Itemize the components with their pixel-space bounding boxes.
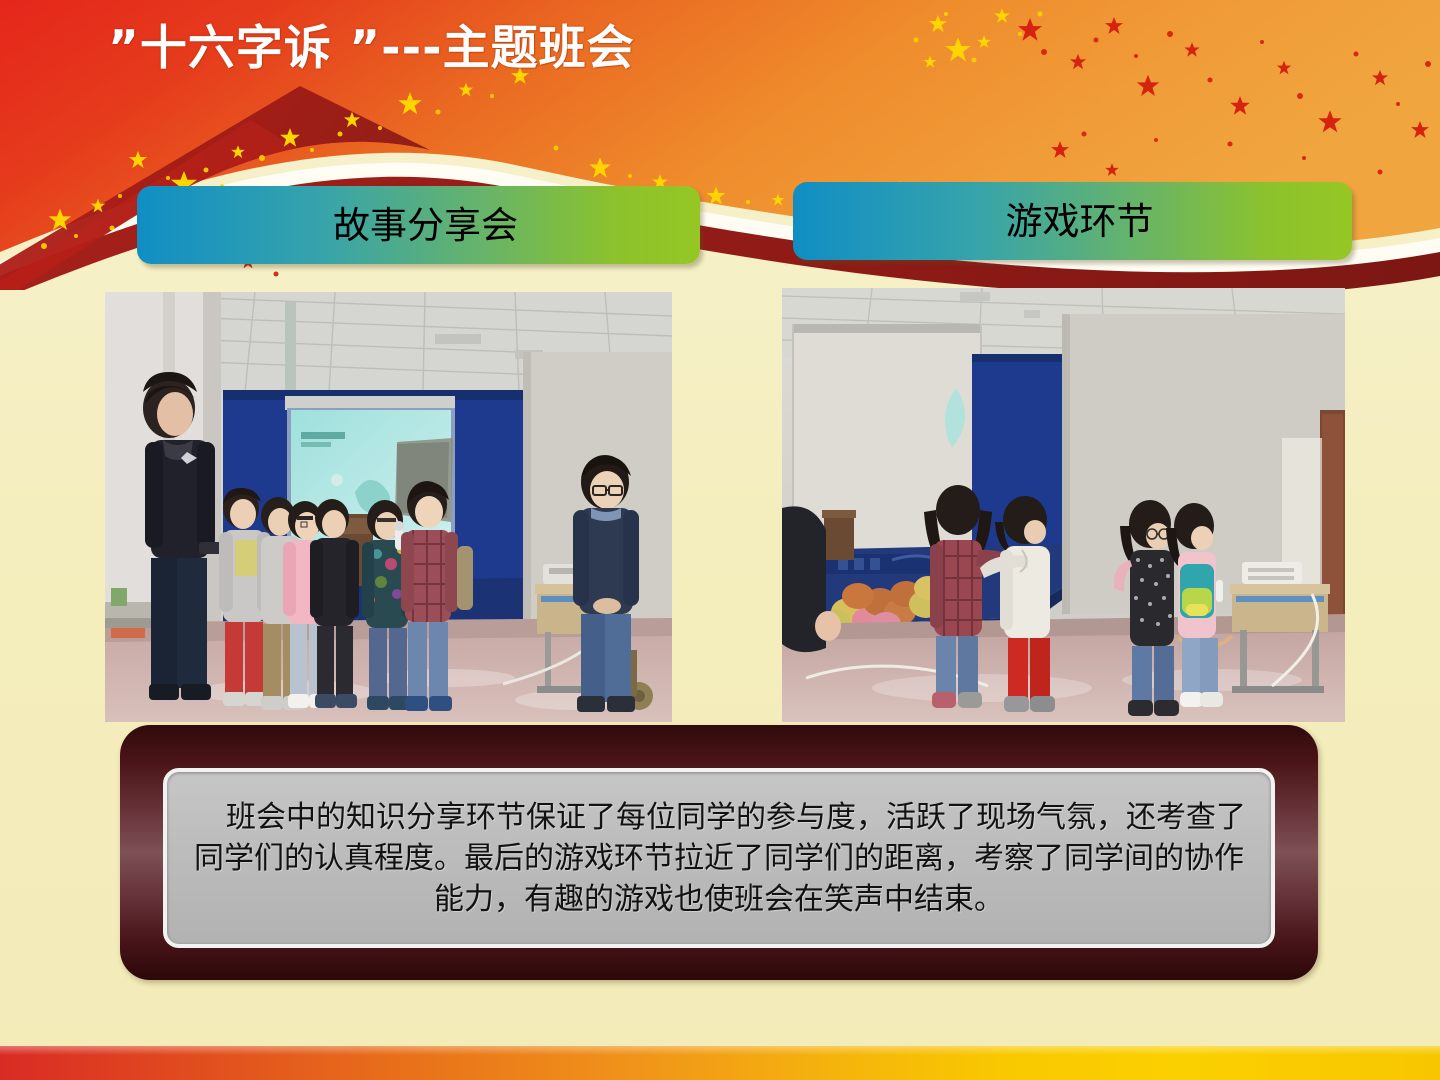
section-pill-label: 故事分享会 xyxy=(319,207,518,244)
slide-canvas: ”十六字诉 ”---主题班会 故事分享会 游戏环节 xyxy=(0,0,1440,1080)
section-pill-label: 游戏环节 xyxy=(992,203,1154,240)
section-pill-game-segment[interactable]: 游戏环节 xyxy=(793,182,1352,260)
photo-story-sharing xyxy=(105,292,672,722)
footer-accent-bar xyxy=(0,1044,1440,1080)
photo-game-segment-graphic xyxy=(782,288,1345,722)
section-pill-story-sharing[interactable]: 故事分享会 xyxy=(137,186,700,264)
photo-story-sharing-graphic xyxy=(105,292,672,722)
caption-panel: 班会中的知识分享环节保证了每位同学的参与度，活跃了现场气氛，还考查了同学们的认真… xyxy=(163,768,1275,948)
caption-text: 班会中的知识分享环节保证了每位同学的参与度，活跃了现场气氛，还考查了同学们的认真… xyxy=(167,797,1271,920)
page-title: ”十六字诉 ”---主题班会 xyxy=(108,18,728,80)
caption-frame: 班会中的知识分享环节保证了每位同学的参与度，活跃了现场气氛，还考查了同学们的认真… xyxy=(120,725,1318,980)
photo-game-segment xyxy=(782,288,1345,722)
